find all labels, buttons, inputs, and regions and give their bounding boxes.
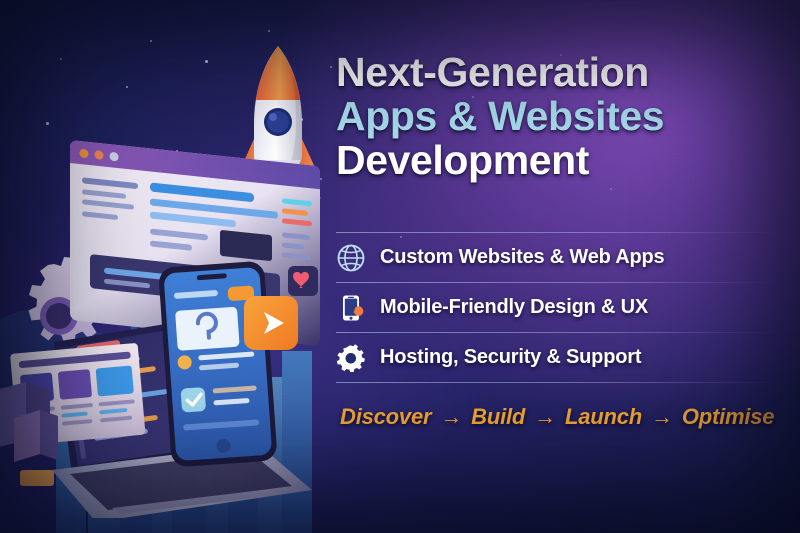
feature-label: Custom Websites & Web Apps <box>380 246 664 269</box>
cursor-badge <box>244 296 298 350</box>
feature-item-hosting: Hosting, Security & Support <box>336 333 788 382</box>
feature-label: Mobile-Friendly Design & UX <box>380 296 648 319</box>
chip-decoration <box>20 470 54 486</box>
arrow-icon: → <box>534 404 556 430</box>
cta-step: Optimise <box>682 404 775 430</box>
cta-step: Launch <box>565 404 642 430</box>
device-illustration <box>0 118 332 518</box>
headline-line-2: Apps & Websites <box>336 96 788 137</box>
feature-label: Hosting, Security & Support <box>380 346 641 369</box>
feature-item-mobile: Mobile-Friendly Design & UX <box>336 283 788 332</box>
globe-icon <box>336 243 366 273</box>
page-title: Next-Generation Apps & Websites Developm… <box>336 52 788 181</box>
headline-line-3: Development <box>336 140 788 181</box>
gear-icon <box>336 343 366 373</box>
cta-step: Discover <box>340 404 431 430</box>
feature-item-websites: Custom Websites & Web Apps <box>336 233 788 282</box>
mobile-icon <box>336 293 366 323</box>
cta-process-steps: Discover → Build → Launch → Optimise <box>340 404 774 430</box>
cube-decoration <box>0 382 58 462</box>
arrow-icon: → <box>440 404 462 430</box>
cta-step: Build <box>471 404 525 430</box>
divider <box>336 382 788 383</box>
smartphone-device <box>158 261 278 468</box>
banner-content: Next-Generation Apps & Websites Developm… <box>336 52 788 472</box>
promo-banner: Next-Generation Apps & Websites Developm… <box>0 0 800 533</box>
feature-list: Custom Websites & Web Apps Mobile-Friend… <box>336 232 788 383</box>
heart-badge <box>288 266 318 296</box>
headline-line-1: Next-Generation <box>336 52 788 93</box>
arrow-icon: → <box>651 404 673 430</box>
